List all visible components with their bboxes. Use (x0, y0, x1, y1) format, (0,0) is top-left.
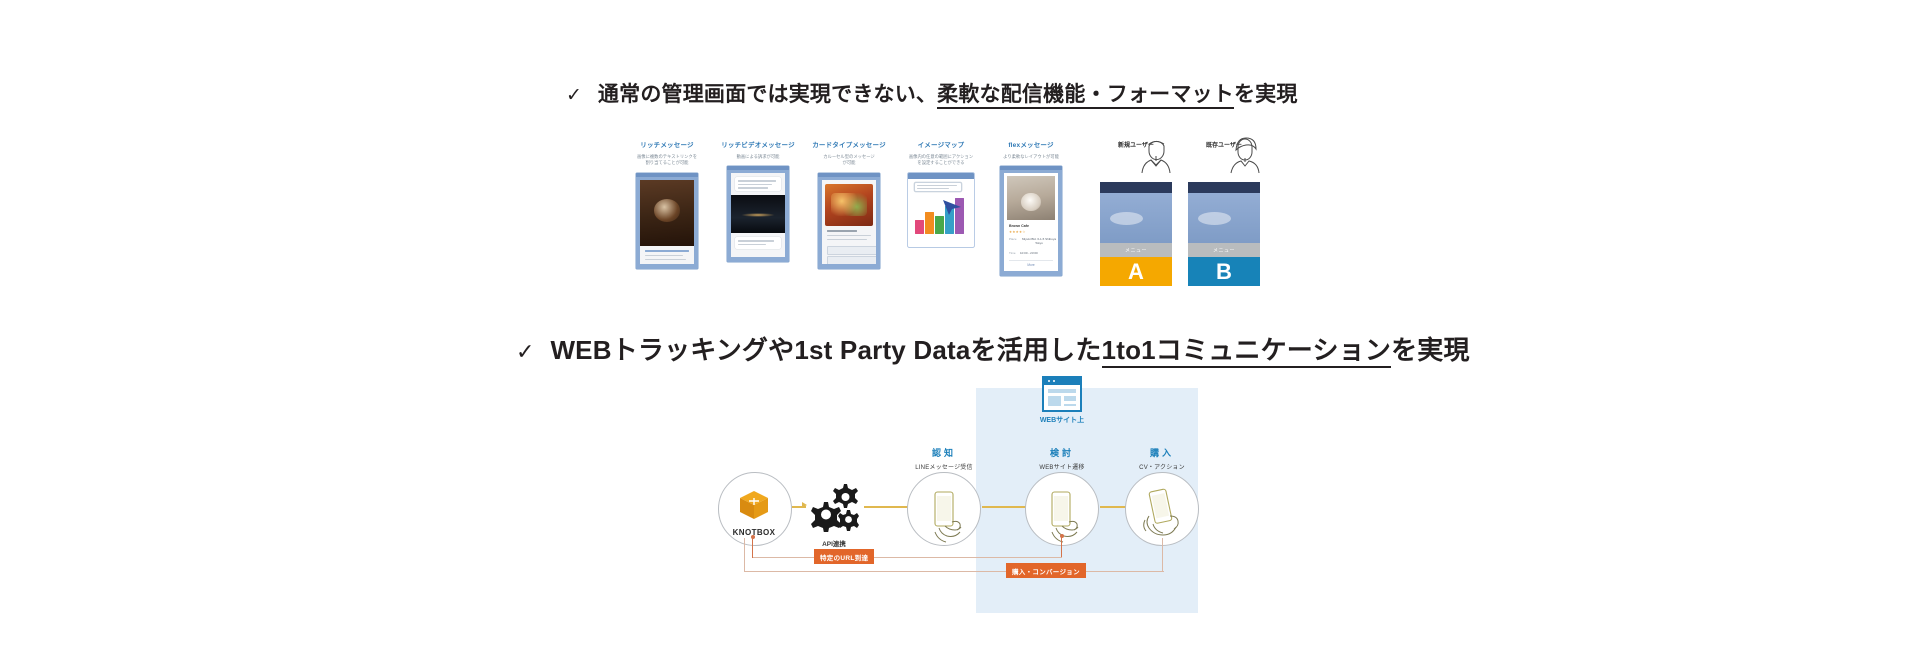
flex-card-row-label: Time (1009, 251, 1016, 255)
chat-bubble (914, 182, 962, 192)
format-title: リッチビデオメッセージ (716, 142, 800, 150)
hands-tapping-phone-icon (1137, 486, 1187, 544)
api-gears-icon (806, 480, 862, 532)
caption-line (645, 259, 686, 261)
check-icon: ✓ (566, 84, 582, 107)
rich-menu-bar: メニュー (1100, 243, 1172, 257)
return-tag-conversion: 購入・コンバージョン (1006, 563, 1086, 578)
phone-screen (640, 180, 694, 264)
format-item-card-message: カードタイプメッセージ カルーセル型のメッセージ が可能 (808, 142, 890, 269)
flex-card-shop-name: Brown Cafe (1009, 224, 1029, 228)
node-sub-label: WEBサイト遷移 (1026, 462, 1098, 471)
menu-label: メニュー (1125, 247, 1147, 254)
customer-journey-flow: WEBサイト上 KNOTBOX (718, 388, 1198, 613)
phone-status-bar (1100, 182, 1172, 193)
format-preview-phone (727, 166, 789, 262)
phone-screen: Brown Cafe ★★★★☆ Place Miyuki Bld. 6-1-5… (1004, 173, 1058, 271)
divider (1009, 260, 1053, 261)
hero-image (1188, 193, 1260, 243)
food-photo (825, 184, 873, 226)
new-user-avatar-icon (1136, 136, 1176, 174)
format-preview-phone: Brown Cafe ★★★★☆ Place Miyuki Bld. 6-1-5… (1000, 166, 1062, 276)
message-format-gallery: リッチメッセージ 画像に複数のテキストリンクを 割り当てることが可能 リッチビデ… (628, 142, 1038, 302)
format-description: 動画による訴求が可能 (716, 154, 800, 160)
ab-phone-a: メニュー A (1100, 182, 1172, 286)
browser-window-icon (1042, 376, 1082, 412)
format-preview-phone (636, 173, 698, 269)
phone-screen (822, 180, 876, 264)
format-title: カードタイプメッセージ (808, 142, 890, 150)
cafe-photo (1007, 176, 1055, 220)
journey-node-awareness: 認知 LINEメッセージ受信 (908, 446, 980, 471)
caption-line (645, 255, 683, 257)
flex-card-row-value: 10:00 - 23:00 (1020, 251, 1038, 255)
headline-1-text: 通常の管理画面では実現できない、柔軟な配信機能・フォーマットを実現 (598, 78, 1298, 108)
headline-1-pre: 通常の管理画面では実現できない、 (598, 83, 937, 106)
node-stage-label: 検討 (1026, 446, 1098, 459)
phone-status-bar (636, 173, 698, 177)
headline-2-post: を実現 (1391, 335, 1470, 365)
format-preview-phone (908, 173, 974, 247)
phone-status-bar (1000, 166, 1062, 170)
ab-test-illustration: 新規ユーザー メニュー A (1100, 140, 1260, 290)
node-stage-label: 認知 (908, 446, 980, 459)
return-path-segment (1061, 536, 1062, 558)
return-target-dot (751, 535, 755, 539)
flex-card-row-label: Place (1009, 237, 1017, 241)
flex-card-rating: ★★★★☆ (1009, 230, 1026, 234)
return-path-segment (752, 557, 1062, 558)
web-site-caption: WEBサイト上 (1036, 415, 1088, 425)
variant-letter-a: A (1128, 261, 1144, 283)
video-thumbnail (731, 195, 785, 233)
format-item-imagemap: イメージマップ 画像内の任意の範囲にアクション を設定することができる (898, 142, 984, 247)
ab-variant-b: 既存ユーザー メニュー B (1188, 140, 1260, 149)
return-path-segment (1162, 538, 1163, 572)
headline-flexible-delivery: ✓ 通常の管理画面では実現できない、柔軟な配信機能・フォーマットを実現 (566, 78, 1298, 108)
format-description: より柔軟なレイアウトが可能 (992, 154, 1070, 160)
variant-letter-b: B (1216, 261, 1232, 283)
variant-fill-a: A (1100, 257, 1172, 286)
hand-holding-phone-icon (921, 486, 967, 544)
slide-canvas: ✓ 通常の管理画面では実現できない、柔軟な配信機能・フォーマットを実現 リッチメ… (0, 0, 1920, 653)
ab-phone-b: メニュー B (1188, 182, 1260, 286)
format-title: リッチメッセージ (628, 142, 706, 150)
node-stage-label: 購入 (1126, 446, 1198, 459)
caption-line (645, 250, 689, 252)
phone-status-bar (1188, 182, 1260, 193)
check-icon: ✓ (516, 339, 534, 365)
phone-screen (911, 180, 971, 244)
format-description: 画像に複数のテキストリンクを 割り当てることが可能 (628, 154, 706, 167)
format-item-rich-message: リッチメッセージ 画像に複数のテキストリンクを 割り当てることが可能 (628, 142, 706, 269)
ab-variant-a: 新規ユーザー メニュー A (1100, 140, 1172, 149)
menu-label: メニュー (1213, 247, 1235, 254)
format-title: flexメッセージ (992, 142, 1070, 150)
headline-1-underline: 柔軟な配信機能・フォーマット (937, 83, 1234, 109)
format-description: 画像内の任意の範囲にアクション を設定することができる (898, 154, 984, 167)
return-tag-url-reached: 特定のURL到達 (814, 549, 874, 564)
return-path-segment (744, 571, 1164, 572)
node-sub-label: CV・アクション (1126, 462, 1198, 471)
return-path-segment (752, 538, 753, 558)
return-path-segment (744, 538, 745, 572)
format-description: カルーセル型のメッセージ が可能 (808, 154, 890, 167)
headline-1-post: を実現 (1234, 83, 1298, 106)
web-site-icon-group: WEBサイト上 (1036, 376, 1088, 425)
phone-status-bar (818, 173, 880, 177)
phone-screen (731, 173, 785, 257)
coffee-photo (640, 180, 694, 246)
headline-1to1-communication: ✓ WEBトラッキングや1st Party Dataを活用した1to1コミュニケ… (516, 330, 1470, 367)
format-item-flex-message: flexメッセージ より柔軟なレイアウトが可能 Brown Cafe ★★★★☆… (992, 142, 1070, 276)
chat-bubble (735, 237, 781, 249)
flex-card-row-value: Miyuki Bld. 6-1-5 Shibuya Tokyo (1020, 237, 1058, 245)
variant-fill-b: B (1188, 257, 1260, 286)
card-action-button (827, 256, 876, 264)
phone-status-bar (908, 173, 974, 179)
rich-menu-bar: メニュー (1188, 243, 1260, 257)
card-action-button (827, 246, 876, 255)
journey-node-purchase: 購入 CV・アクション (1126, 446, 1198, 471)
format-title: イメージマップ (898, 142, 984, 150)
phone-status-bar (727, 166, 789, 170)
cursor-pointer-icon (941, 198, 963, 216)
headline-2-text: WEBトラッキングや1st Party Dataを活用した1to1コミュニケーシ… (550, 330, 1469, 367)
format-preview-phone (818, 173, 880, 269)
flow-connector (864, 506, 908, 508)
node-sub-label: LINEメッセージ受信 (908, 462, 980, 471)
chat-bubble (735, 177, 781, 191)
knotbox-cube-icon (737, 488, 771, 522)
headline-2-underline: 1to1コミュニケーション (1102, 335, 1392, 368)
flex-card-action: More (1004, 263, 1058, 267)
flow-connector (982, 506, 1026, 508)
format-item-rich-video-message: リッチビデオメッセージ 動画による訴求が可能 (716, 142, 800, 262)
journey-node-consideration: 検討 WEBサイト遷移 (1026, 446, 1098, 471)
existing-user-avatar-icon (1224, 136, 1264, 174)
headline-2-pre: WEBトラッキングや1st Party Dataを活用した (550, 335, 1101, 365)
api-integration-label: API連携 (798, 538, 870, 548)
hero-image (1100, 193, 1172, 243)
